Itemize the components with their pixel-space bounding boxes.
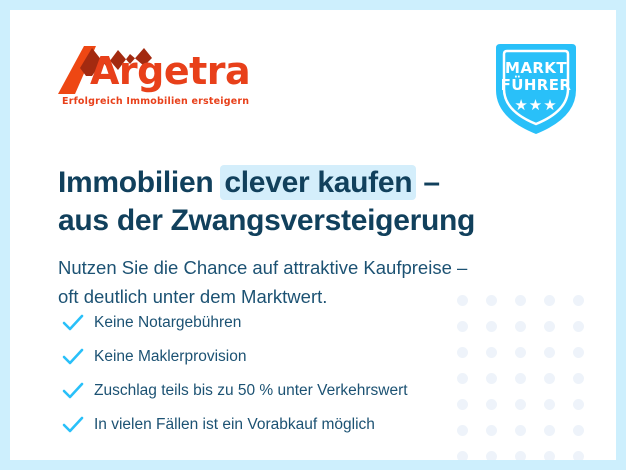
logo-tagline: Erfolgreich Immobilien ersteigern [62, 96, 249, 107]
markt-fuehrer-badge: MARKT FÜHRER ★★★ [490, 38, 582, 138]
grid-dot [515, 399, 544, 425]
grid-dot [486, 399, 515, 425]
decorative-dot-grid [457, 295, 602, 460]
grid-dot [544, 451, 573, 460]
list-item-label: Keine Notargebühren [94, 314, 241, 332]
list-item-label: Keine Maklerprovision [94, 348, 247, 366]
grid-dot [544, 347, 573, 373]
grid-dot [457, 399, 486, 425]
grid-dot [515, 451, 544, 460]
list-item: Zuschlag teils bis zu 50 % unter Verkehr… [62, 376, 408, 406]
headline-line-2: aus der Zwangsversteigerung [58, 202, 475, 240]
grid-dot [573, 451, 602, 460]
list-item-label: Zuschlag teils bis zu 50 % unter Verkehr… [94, 382, 408, 400]
argetra-logo[interactable]: Argetra Erfolgreich Immobilien ersteiger… [56, 44, 256, 96]
list-item: Keine Maklerprovision [62, 342, 408, 372]
grid-dot [515, 321, 544, 347]
check-icon [62, 346, 88, 368]
page-title: Immobilien clever kaufen – aus der Zwang… [58, 164, 475, 240]
grid-dot [486, 347, 515, 373]
subheading-line-1: Nutzen Sie die Chance auf attraktive Kau… [58, 253, 467, 282]
headline-text-before: Immobilien [58, 166, 221, 199]
grid-dot [457, 321, 486, 347]
subheading-line-2: oft deutlich unter dem Marktwert. [58, 282, 467, 311]
grid-dot [457, 347, 486, 373]
grid-dot [544, 321, 573, 347]
badge-line-1: MARKT [505, 59, 567, 77]
list-item: In vielen Fällen ist ein Vorabkauf mögli… [62, 410, 408, 440]
grid-dot [544, 425, 573, 451]
list-item: Keine Notargebühren [62, 308, 408, 338]
headline-highlight: clever kaufen [220, 165, 416, 200]
headline-line-1: Immobilien clever kaufen – [58, 164, 475, 202]
grid-dot [486, 425, 515, 451]
grid-dot [457, 451, 486, 460]
grid-dot [544, 373, 573, 399]
grid-dot [544, 295, 573, 321]
benefits-list: Keine Notargebühren Keine Maklerprovisio… [62, 308, 408, 444]
promo-banner: Argetra Erfolgreich Immobilien ersteiger… [0, 0, 626, 470]
grid-dot [573, 373, 602, 399]
grid-dot [486, 451, 515, 460]
grid-dot [544, 399, 573, 425]
grid-dot [515, 425, 544, 451]
grid-dot [515, 295, 544, 321]
list-item-label: In vielen Fällen ist ein Vorabkauf mögli… [94, 416, 375, 434]
grid-dot [486, 373, 515, 399]
grid-dot [573, 399, 602, 425]
grid-dot [515, 373, 544, 399]
badge-text: MARKT FÜHRER [490, 60, 582, 94]
badge-stars: ★★★ [490, 98, 582, 113]
subheading: Nutzen Sie die Chance auf attraktive Kau… [58, 253, 467, 311]
logo-wordmark: Argetra [90, 48, 250, 94]
grid-dot [573, 347, 602, 373]
headline-text-after: – [415, 166, 439, 199]
grid-dot [486, 321, 515, 347]
check-icon [62, 312, 88, 334]
grid-dot [573, 295, 602, 321]
badge-line-2: FÜHRER [501, 76, 572, 94]
grid-dot [573, 425, 602, 451]
logo-mark-row: Argetra [56, 44, 256, 96]
grid-dot [486, 295, 515, 321]
check-icon [62, 380, 88, 402]
grid-dot [457, 373, 486, 399]
banner-content-area: Argetra Erfolgreich Immobilien ersteiger… [10, 10, 616, 460]
grid-dot [573, 321, 602, 347]
check-icon [62, 414, 88, 436]
grid-dot [457, 425, 486, 451]
grid-dot [515, 347, 544, 373]
